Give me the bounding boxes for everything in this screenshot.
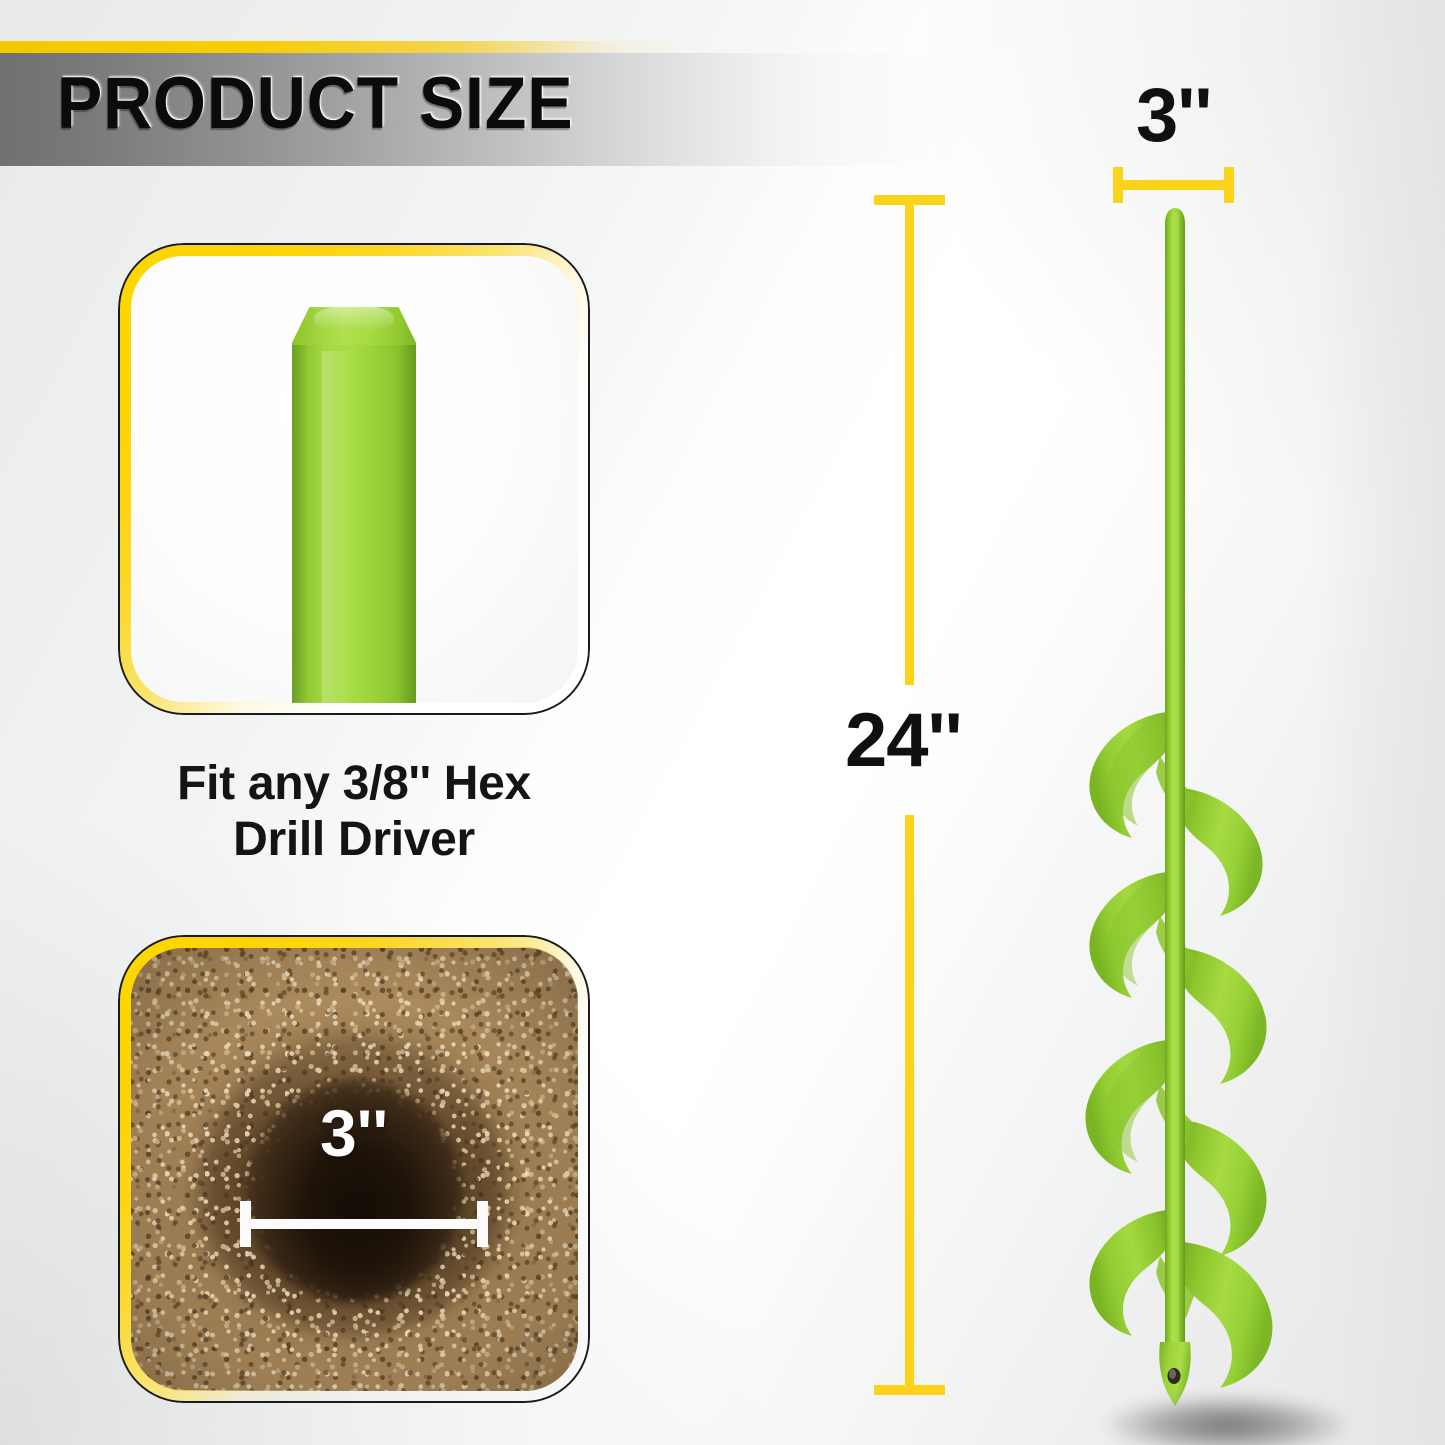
header-accent-rule	[0, 41, 690, 53]
length-dimension-line-lower	[905, 815, 914, 1385]
hex-shaft-highlight	[322, 351, 352, 703]
width-dimension-bar-line	[1113, 180, 1234, 190]
auger-bit-svg	[1060, 200, 1290, 1430]
hex-shaft-image	[292, 301, 416, 703]
page-title: PRODUCT SIZE	[57, 62, 574, 145]
hex-shaft-top-sheen	[314, 305, 393, 331]
hex-shaft-card	[118, 243, 590, 715]
hex-shaft-left-edge-shade	[292, 315, 308, 703]
auger-bit-image	[1060, 200, 1290, 1430]
product-size-infographic: PRODUCT SIZE Fit any 3/8'' Hex Drill Dri…	[0, 0, 1445, 1445]
soil-hole-card-inner: 3''	[130, 947, 578, 1391]
hex-shaft-caption-line-1: Fit any 3/8'' Hex	[118, 756, 590, 812]
hex-shaft-caption-line-2: Drill Driver	[118, 812, 590, 868]
width-dimension-cap-right	[1224, 167, 1234, 203]
auger-shaft	[1165, 208, 1185, 1360]
hex-shaft-card-inner	[130, 255, 578, 703]
length-dimension-label: 24''	[845, 697, 962, 784]
hex-shaft-right-edge-shade	[398, 315, 416, 703]
length-dimension-line-upper	[905, 205, 914, 685]
soil-hole-card: 3''	[118, 935, 590, 1403]
auger-tip	[1159, 1342, 1190, 1406]
width-dimension-bar	[1113, 167, 1234, 203]
hole-diameter-dimension-bar	[240, 1201, 488, 1247]
auger-drop-shadow	[1108, 1396, 1346, 1445]
hex-shaft-caption: Fit any 3/8'' Hex Drill Driver	[118, 756, 590, 868]
background-right-edge-shade	[1315, 0, 1445, 1445]
hex-shaft-top-face	[292, 301, 416, 345]
dimension-cap-right	[477, 1201, 488, 1247]
length-dimension-cap-top	[874, 195, 945, 205]
length-dimension-line	[905, 195, 914, 1395]
length-dimension-cap-bottom	[874, 1385, 945, 1395]
width-dimension-label: 3''	[1136, 72, 1211, 159]
dimension-bar-line	[240, 1219, 488, 1229]
hole-diameter-label: 3''	[130, 1095, 578, 1171]
